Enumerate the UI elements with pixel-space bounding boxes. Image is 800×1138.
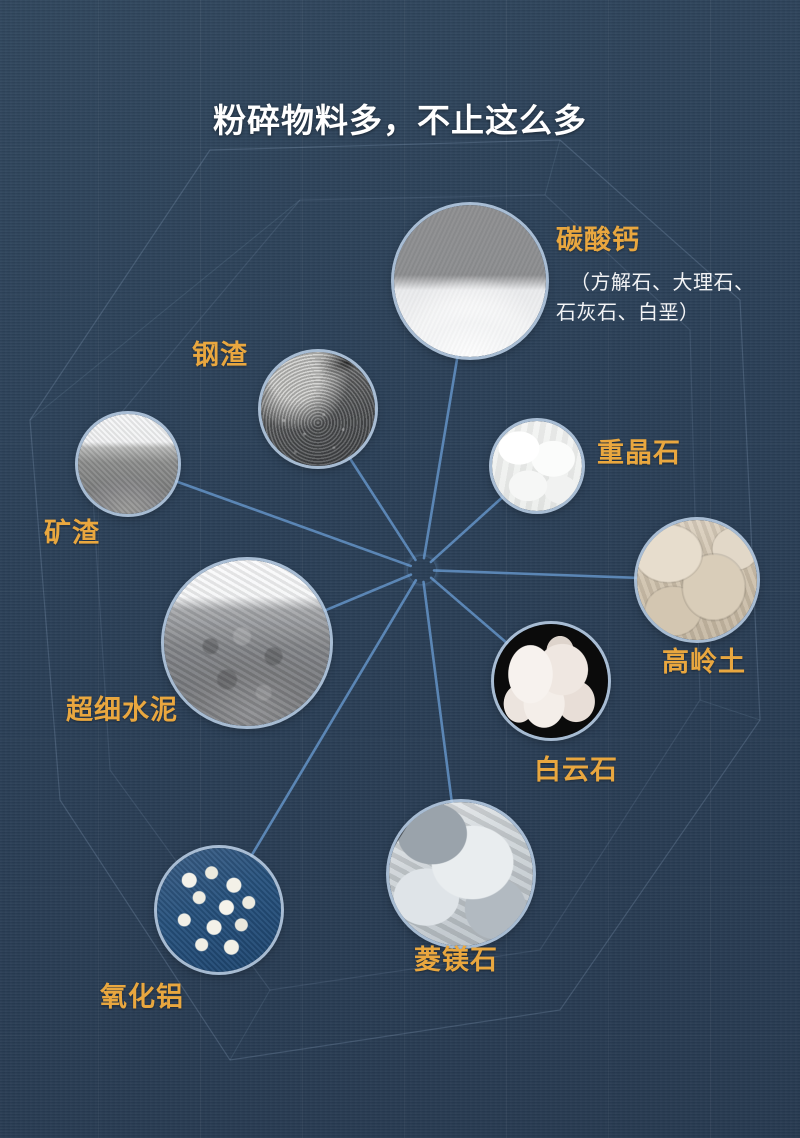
connector-line-mineral-slag [174,481,411,566]
poster-canvas: 粉碎物料多，不止这么多 碳酸钙（方解石、大理石、石灰石、白垩）钢渣矿渣超细水泥氧… [0,0,800,1138]
material-image-barite [492,421,582,511]
connector-line-ultrafine-cement [323,575,411,612]
connector-line-kaolin [434,570,638,577]
material-image-alumina [157,848,281,972]
material-subcaption-calcium-carbonate: （方解石、大理石、石灰石、白垩） [570,268,755,328]
material-label-mineral-slag: 矿渣 [44,511,100,550]
material-image-steel-slag [261,352,375,466]
subcaption-line-2: 石灰石、白垩） [556,298,755,328]
material-photo-alumina[interactable] [157,848,281,972]
connector-line-steel-slag [348,456,415,560]
material-photo-magnesite[interactable] [389,802,533,946]
hub-node[interactable] [408,556,436,584]
material-label-dolomite: 白云石 [534,748,618,787]
material-image-magnesite [389,802,533,946]
material-photo-kaolin[interactable] [637,520,757,640]
material-image-kaolin [637,520,757,640]
material-label-kaolin: 高岭土 [662,640,746,679]
material-image-ultrafine-cement [164,560,330,726]
material-label-magnesite: 菱镁石 [414,938,498,977]
material-image-calcium-carbonate [394,205,546,357]
material-label-steel-slag: 钢渣 [192,333,248,372]
material-image-dolomite [494,624,608,738]
material-label-ultrafine-cement: 超细水泥 [66,688,178,727]
material-photo-barite[interactable] [492,421,582,511]
material-photo-mineral-slag[interactable] [78,414,178,514]
material-photo-dolomite[interactable] [494,624,608,738]
material-photo-calcium-carbonate[interactable] [394,205,546,357]
material-label-calcium-carbonate: 碳酸钙 [556,218,640,257]
page-title: 粉碎物料多，不止这么多 [0,94,800,142]
material-image-mineral-slag [78,414,178,514]
subcaption-line-1: （方解石、大理石、 [570,268,755,298]
material-label-barite: 重晶石 [597,431,681,470]
material-label-alumina: 氧化铝 [100,975,184,1014]
connector-line-magnesite [424,582,452,804]
material-photo-ultrafine-cement[interactable] [164,560,330,726]
material-photo-steel-slag[interactable] [261,352,375,466]
connector-line-calcium-carbonate [424,355,458,558]
